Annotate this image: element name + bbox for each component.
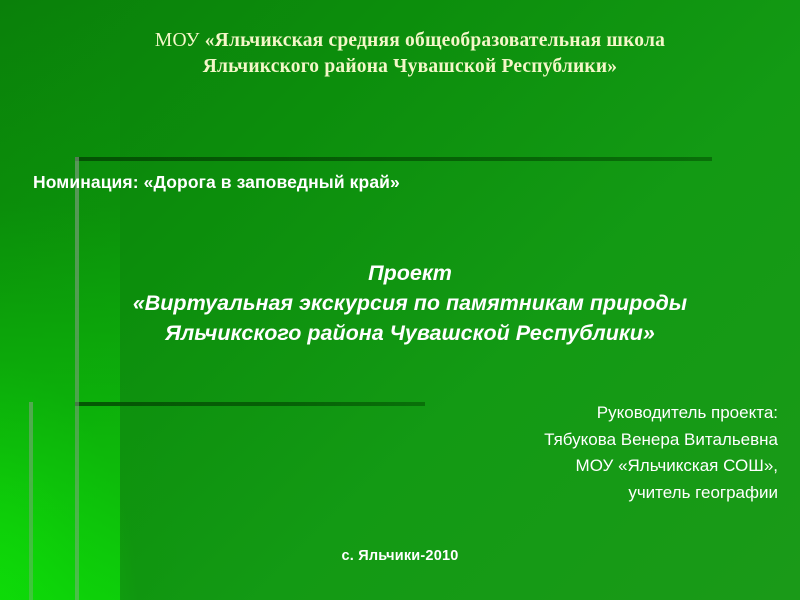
horizontal-divider-top (75, 157, 712, 161)
slide-title-quoted-line-1: «Яльчикская средняя общеобразовательная … (205, 30, 665, 51)
author-name: Тябукова Венера Витальевна (258, 427, 778, 454)
slide-title: МОУ «Яльчикская средняя общеобразователь… (100, 28, 720, 80)
slide-title-quoted-line-2: Яльчикского района Чувашской Республики» (203, 56, 618, 77)
author-role-label: Руководитель проекта: (258, 400, 778, 427)
author-position: учитель географии (258, 480, 778, 507)
author-organization: МОУ «Яльчикская СОШ», (258, 453, 778, 480)
author-block: Руководитель проекта: Тябукова Венера Ви… (258, 400, 778, 506)
project-title-line-2: Яльчикского района Чувашской Республики» (40, 318, 780, 348)
project-heading: Проект (40, 258, 780, 288)
vertical-divider-main (75, 157, 79, 600)
presentation-slide: МОУ «Яльчикская средняя общеобразователь… (0, 0, 800, 600)
nomination-label: Номинация: «Дорога в заповедный край» (33, 172, 400, 193)
project-title-line-1: «Виртуальная экскурсия по памятникам при… (40, 288, 780, 318)
slide-footer-place-year: с. Яльчики-2010 (0, 548, 800, 564)
project-block: Проект «Виртуальная экскурсия по памятни… (40, 258, 780, 348)
vertical-divider-secondary (29, 402, 33, 600)
slide-title-prefix: МОУ (155, 30, 205, 51)
